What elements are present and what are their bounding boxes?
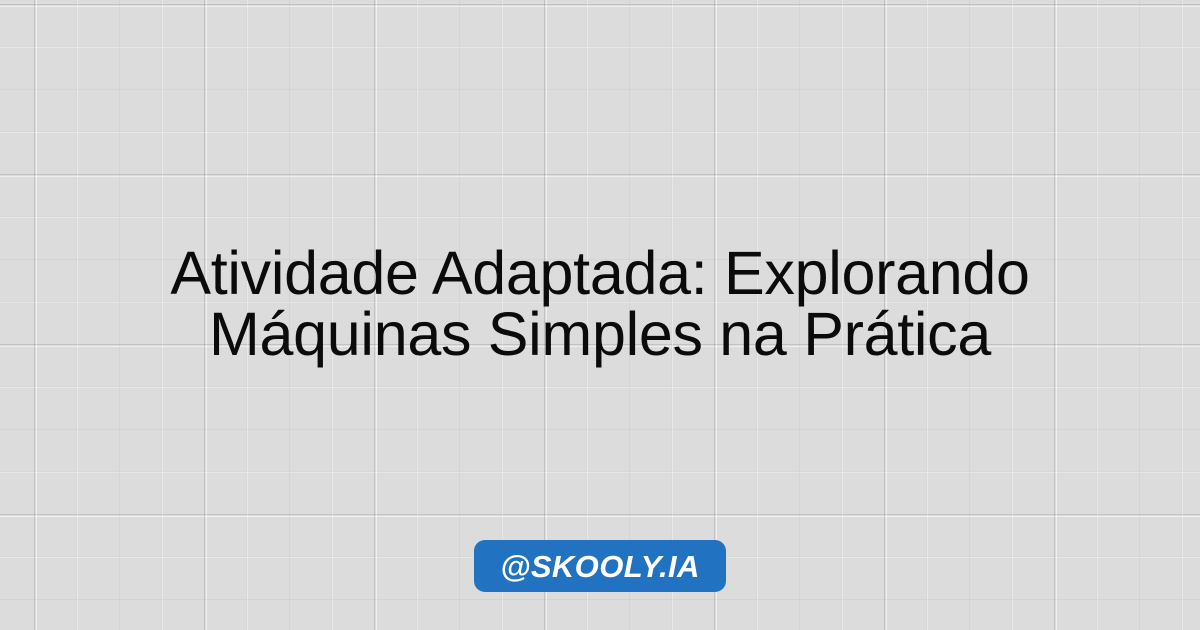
og-card: Atividade Adaptada: Explorando Máquinas …: [0, 0, 1200, 630]
handle-badge[interactable]: @SKOOLY.IA: [474, 540, 726, 592]
handle-badge-row: @SKOOLY.IA: [0, 540, 1200, 592]
page-title: Atividade Adaptada: Explorando Máquinas …: [40, 243, 1160, 365]
title-block: Atividade Adaptada: Explorando Máquinas …: [0, 243, 1200, 365]
